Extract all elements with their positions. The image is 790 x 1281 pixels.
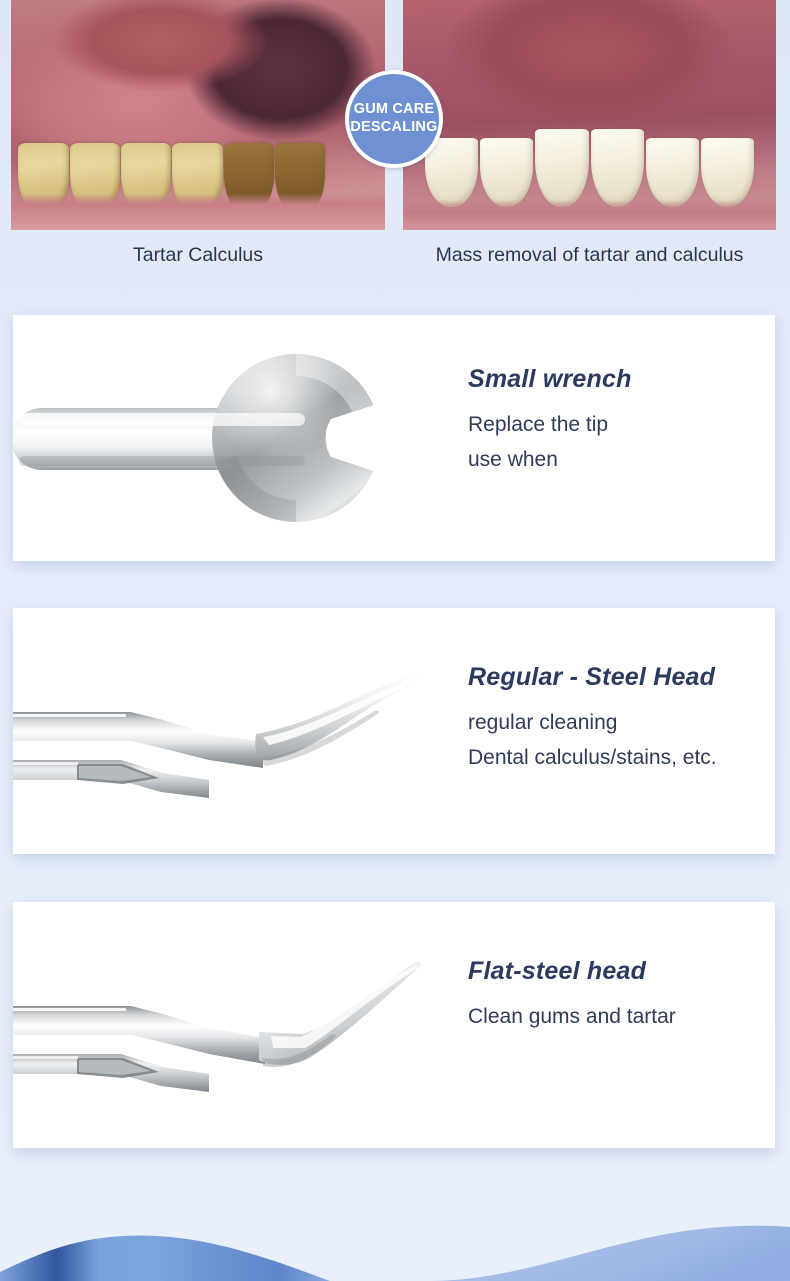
feature-card-small-wrench: Small wrench Replace the tip use when [13,315,775,561]
comparison-captions: Tartar Calculus Mass removal of tartar a… [0,244,790,282]
caption-before: Tartar Calculus [11,244,385,267]
feature-line: use when [468,443,768,478]
gum-line-after [403,200,776,230]
badge-line-2: DESCALING [350,119,437,137]
feature-line: regular cleaning [468,706,768,741]
bottom-wave-decoration [0,1181,790,1281]
photo-before-tartar [11,0,385,230]
feature-text-flat-steel-head: Flat-steel head Clean gums and tartar [468,957,768,1035]
scaler-tip-flat-illustration [13,902,468,1148]
feature-title: Flat-steel head [468,957,768,986]
feature-title: Regular - Steel Head [468,663,768,692]
feature-text-small-wrench: Small wrench Replace the tip use when [468,365,768,477]
mouth-image-after [403,0,776,230]
feature-card-flat-steel-head: Flat-steel head Clean gums and tartar [13,902,775,1148]
photo-after-clean [403,0,776,230]
badge-line-1: GUM CARE [354,101,435,119]
teeth-row-clean [425,129,753,207]
feature-text-regular-steel-head: Regular - Steel Head regular cleaning De… [468,663,768,775]
scaler-tip-curved-illustration [13,608,468,854]
feature-description: Replace the tip use when [468,408,768,477]
mouth-image-before [11,0,385,230]
feature-description: regular cleaning Dental calculus/stains,… [468,706,768,775]
feature-line: Dental calculus/stains, etc. [468,741,768,776]
before-after-comparison: GUM CARE DESCALING [0,0,790,232]
feature-line: Replace the tip [468,408,768,443]
feature-card-regular-steel-head: Regular - Steel Head regular cleaning De… [13,608,775,854]
gum-care-descaling-badge: GUM CARE DESCALING [345,70,443,168]
feature-description: Clean gums and tartar [468,1000,768,1035]
feature-title: Small wrench [468,365,768,394]
caption-after: Mass removal of tartar and calculus [403,244,776,267]
gum-line-before [11,193,385,230]
feature-line: Clean gums and tartar [468,1000,768,1035]
wrench-illustration [13,315,468,561]
product-detail-page: GUM CARE DESCALING Tartar Calculus Mass … [0,0,790,1281]
